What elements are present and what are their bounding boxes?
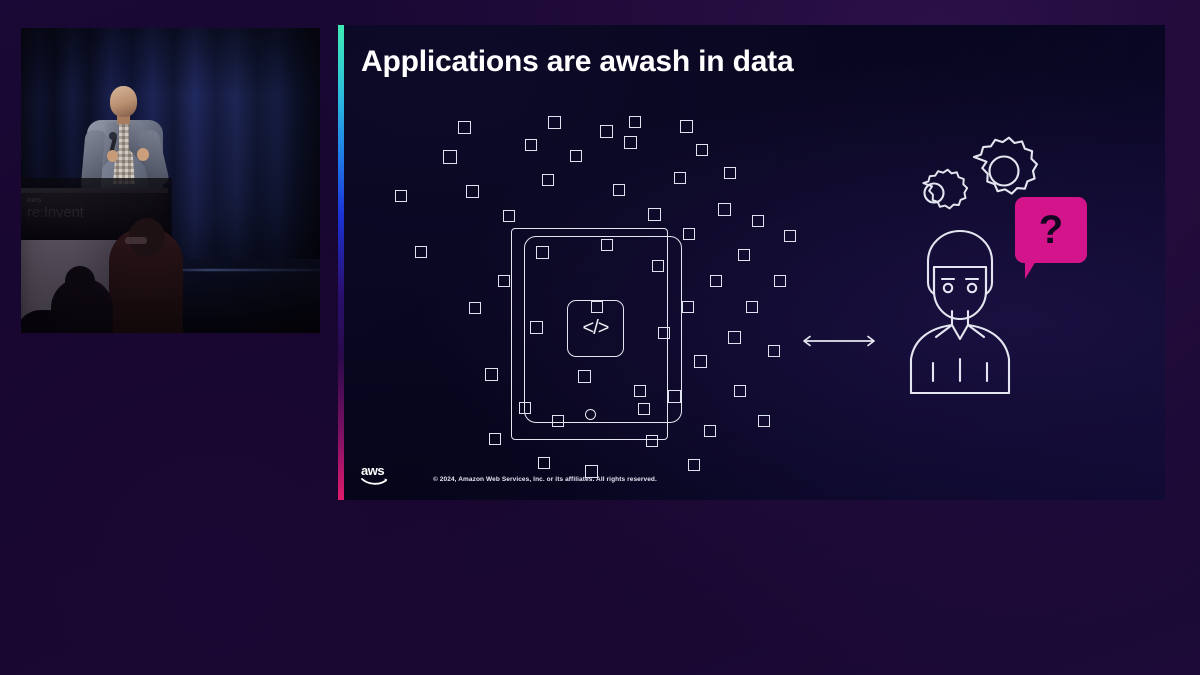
data-square [752,215,764,227]
data-square [469,302,481,314]
data-square [613,184,625,196]
speaker-hand-left [107,150,118,162]
data-square [629,116,641,128]
data-square [570,150,582,162]
data-square [485,368,498,381]
data-square [395,190,407,202]
aws-smile-icon [361,476,389,486]
developer-illustration: ? [898,135,1078,395]
data-square [758,415,770,427]
data-square [525,139,537,151]
data-square [768,345,780,357]
copyright-text: © 2024, Amazon Web Services, Inc. or its… [433,476,657,486]
data-square [694,355,707,368]
data-square [728,331,741,344]
data-square [724,167,736,179]
data-square [466,185,479,198]
aws-logo: aws [361,464,391,486]
audience-glasses-icon [125,237,147,244]
slide-title: Applications are awash in data [361,45,793,79]
data-square [704,425,716,437]
data-square [784,230,796,242]
data-square [489,433,501,445]
data-square [548,116,561,129]
data-square [710,275,722,287]
data-square [688,459,700,471]
slide-graphic: </> [338,115,1165,445]
data-square [600,125,613,138]
data-square [718,203,731,216]
data-square [674,172,686,184]
data-square [774,275,786,287]
presentation-slide[interactable]: Applications are awash in data </> [338,25,1165,500]
data-square [443,150,457,164]
microphone-head-icon [109,132,117,140]
data-square [682,301,694,313]
data-square [680,120,693,133]
slide-footer: aws © 2024, Amazon Web Services, Inc. or… [361,464,657,486]
speaker-video-panel[interactable]: AWS re:Invent [21,28,320,333]
data-square [683,228,695,240]
data-square [458,121,471,134]
data-square [738,249,750,261]
data-square [498,275,510,287]
data-square [503,210,515,222]
developer-line-art [898,135,1078,395]
data-square [542,174,554,186]
data-square [734,385,746,397]
audience-head-left [65,266,95,296]
bidirectional-arrow-icon [798,333,880,349]
question-mark-label: ? [1015,197,1087,263]
data-square [415,246,427,258]
speaker-head [110,86,137,117]
code-icon: </> [567,300,624,357]
speaker-hand-right [137,148,149,161]
tablet-home-button-icon [585,409,596,420]
data-square [648,208,661,221]
speech-bubble-tail [1025,261,1036,279]
data-square [624,136,637,149]
data-square [746,301,758,313]
data-square [696,144,708,156]
